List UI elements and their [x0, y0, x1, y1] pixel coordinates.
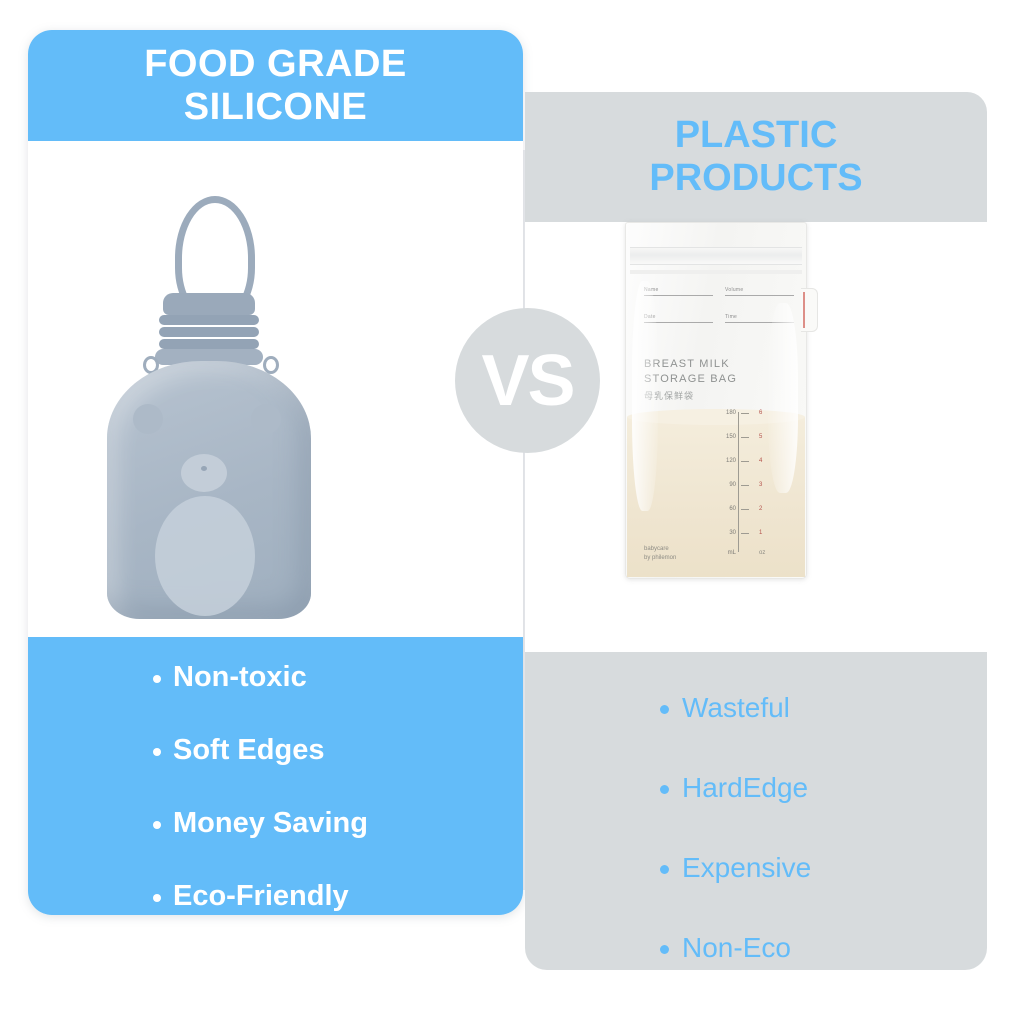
bullet-dot-icon: [153, 821, 161, 829]
bullet-dot-icon: [153, 894, 161, 902]
left-panel-title: FOOD GRADE SILICONE: [144, 43, 407, 128]
scale-row: 120 4: [712, 456, 772, 466]
right-panel-header: PLASTIC PRODUCTS: [525, 92, 987, 222]
bag-tear-line: [803, 292, 805, 328]
bag-body: Name Volume Date: [625, 222, 807, 579]
bag-zipper-seal: [630, 247, 802, 265]
right-panel-drawbacks: Wasteful HardEdge Expensive Non-Eco: [525, 652, 987, 970]
scale-unit-ml: mL: [712, 550, 740, 556]
scale-tick-spacer: [741, 553, 749, 554]
scale-row: 90 3: [712, 480, 772, 490]
bear-ear-left: [133, 404, 163, 434]
bag-field-label: Volume: [725, 287, 794, 293]
bullet-dot-icon: [153, 748, 161, 756]
infographic-canvas: FOOD GRADE SILICONE: [0, 0, 1024, 1024]
list-item: Non-toxic: [153, 663, 523, 692]
versus-label: VS: [481, 340, 573, 422]
scale-tick: [741, 437, 749, 438]
bag-field-line: [725, 295, 794, 296]
left-panel-header: FOOD GRADE SILICONE: [28, 30, 523, 141]
list-item: Soft Edges: [153, 736, 523, 765]
scale-ml-label: 150: [712, 434, 740, 440]
bag-zipper-seal-secondary: [630, 270, 802, 274]
breast-milk-storage-bag: Name Volume Date: [625, 222, 817, 577]
bag-field-volume: Volume: [725, 287, 794, 296]
list-item: Money Saving: [153, 809, 523, 838]
penguin-beak: [338, 387, 362, 401]
penguin-thread-ring-2: [304, 278, 398, 287]
plastic-product-photo: Name Volume Date: [525, 222, 987, 652]
bag-side-tab: [801, 288, 818, 332]
left-bullet-label: Non-toxic: [173, 661, 307, 693]
scale-ml-label: 30: [712, 530, 740, 536]
bullet-dot-icon: [660, 945, 669, 954]
list-item: Expensive: [660, 854, 987, 882]
scale-ml-label: 90: [712, 482, 740, 488]
right-bullet-label: Non-Eco: [682, 932, 791, 963]
scale-ml-label: 60: [712, 506, 740, 512]
bag-brand-text: babycare by philemon: [644, 545, 676, 564]
scale-unit-oz: oz: [759, 550, 765, 556]
list-item: Wasteful: [660, 694, 987, 722]
bullet-dot-icon: [153, 675, 161, 683]
bullet-dot-icon: [660, 785, 669, 794]
penguin-thread-ring-3: [304, 289, 398, 298]
scale-tick: [741, 461, 749, 462]
left-panel-benefits: Non-toxic Soft Edges Money Saving Eco-Fr…: [28, 637, 523, 915]
scale-tick: [741, 509, 749, 510]
list-item: Eco-Friendly: [153, 882, 523, 911]
right-bullet-label: HardEdge: [682, 772, 808, 803]
bear-belly: [155, 496, 255, 616]
scale-oz-label: 6: [759, 410, 762, 416]
bag-highlight-left: [632, 281, 658, 511]
bullet-dot-icon: [660, 865, 669, 874]
right-panel-title: PLASTIC PRODUCTS: [649, 114, 862, 199]
scale-tick: [741, 413, 749, 414]
bear-cap: [163, 293, 255, 315]
list-item: Non-Eco: [660, 934, 987, 962]
bear-thread-ring-3: [159, 339, 259, 349]
right-panel-card: PLASTIC PRODUCTS Name: [525, 92, 987, 970]
bag-field-name: Name: [644, 287, 713, 296]
bag-volume-scale: 180 6 150 5 120 4: [712, 408, 772, 558]
bear-ear-right: [251, 404, 281, 434]
right-bullet-label: Wasteful: [682, 692, 790, 723]
scale-ml-label: 120: [712, 458, 740, 464]
scale-oz-label: 3: [759, 482, 762, 488]
right-drawback-list: Wasteful HardEdge Expensive Non-Eco: [525, 694, 987, 962]
scale-oz-label: 2: [759, 506, 762, 512]
bear-thread-ring-2: [159, 327, 259, 337]
left-panel-card: FOOD GRADE SILICONE: [28, 30, 523, 915]
bear-thread-ring-1: [159, 315, 259, 325]
scale-row: 180 6: [712, 408, 772, 418]
left-bullet-label: Eco-Friendly: [173, 880, 349, 912]
scale-oz-label: 4: [759, 458, 762, 464]
scale-tick: [741, 485, 749, 486]
scale-oz-label: 5: [759, 434, 762, 440]
bag-field-line: [644, 295, 713, 296]
versus-badge: VS: [455, 308, 600, 453]
scale-row: 150 5: [712, 432, 772, 442]
penguin-right-tab: [403, 304, 419, 322]
bag-field-row: Name Volume: [644, 287, 794, 296]
penguin-thread-ring-1: [304, 267, 398, 276]
silicone-pouch-bear: [103, 196, 318, 626]
bag-field-label: Name: [644, 287, 713, 293]
left-bullet-label: Money Saving: [173, 807, 368, 839]
bear-nose: [201, 466, 207, 471]
scale-row: 30 1: [712, 528, 772, 538]
scale-oz-label: 1: [759, 530, 762, 536]
scale-tick: [741, 533, 749, 534]
scale-row: 60 2: [712, 504, 772, 514]
left-benefit-list: Non-toxic Soft Edges Money Saving Eco-Fr…: [28, 663, 523, 911]
bullet-dot-icon: [660, 705, 669, 714]
scale-ml-label: 180: [712, 410, 740, 416]
silicone-product-photo: [28, 141, 523, 637]
list-item: HardEdge: [660, 774, 987, 802]
penguin-eye-right: [368, 373, 380, 385]
penguin-loop-handle: [318, 161, 392, 275]
right-bullet-label: Expensive: [682, 852, 811, 883]
penguin-cap: [308, 247, 394, 267]
bag-highlight-right: [768, 303, 798, 493]
scale-row-units: mL oz: [712, 548, 772, 558]
bear-snout: [181, 454, 227, 492]
left-bullet-label: Soft Edges: [173, 734, 324, 766]
